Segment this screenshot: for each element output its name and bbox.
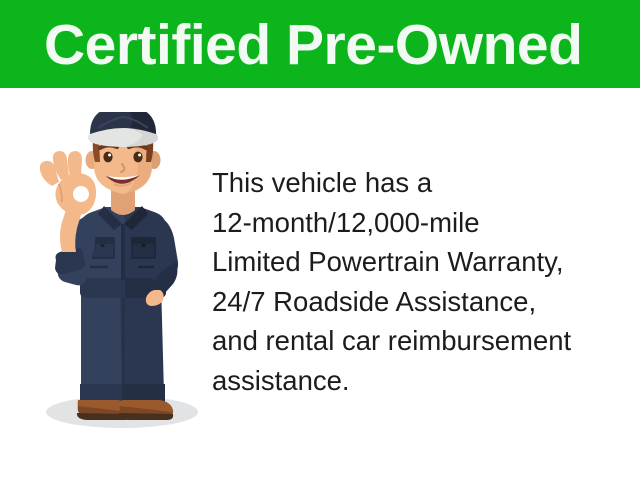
paragraph-line: 24/7 Roadside Assistance, — [212, 282, 632, 322]
paragraph-line: and rental car reimbursement — [212, 321, 632, 361]
chest-pocket-right-button — [142, 244, 146, 247]
page-title: Certified Pre-Owned — [44, 10, 604, 80]
chest-pocket-right-flap — [132, 237, 155, 244]
paragraph-line: This vehicle has a — [212, 163, 632, 203]
eye-right — [133, 152, 142, 163]
shoe-right-sole — [119, 413, 173, 420]
eye-left-highlight — [108, 154, 111, 157]
certified-pre-owned-card: Certified Pre-Owned — [0, 0, 640, 480]
mechanic-illustration — [18, 112, 218, 437]
mechanic-svg — [18, 112, 218, 437]
chest-pocket-left-button — [101, 244, 105, 247]
eye-right-highlight — [138, 154, 141, 157]
coverall-placket — [121, 224, 125, 280]
eye-left — [103, 152, 112, 163]
paragraph-line: assistance. — [212, 361, 632, 401]
header-banner: Certified Pre-Owned — [0, 0, 640, 88]
finger-ring — [68, 151, 82, 178]
ok-circle-hole — [73, 186, 89, 202]
warranty-description: This vehicle has a 12-month/12,000-mile … — [212, 163, 632, 400]
trouser-left — [81, 282, 122, 400]
paragraph-line: 12-month/12,000-mile — [212, 203, 632, 243]
paragraph-line: Limited Powertrain Warranty, — [212, 242, 632, 282]
